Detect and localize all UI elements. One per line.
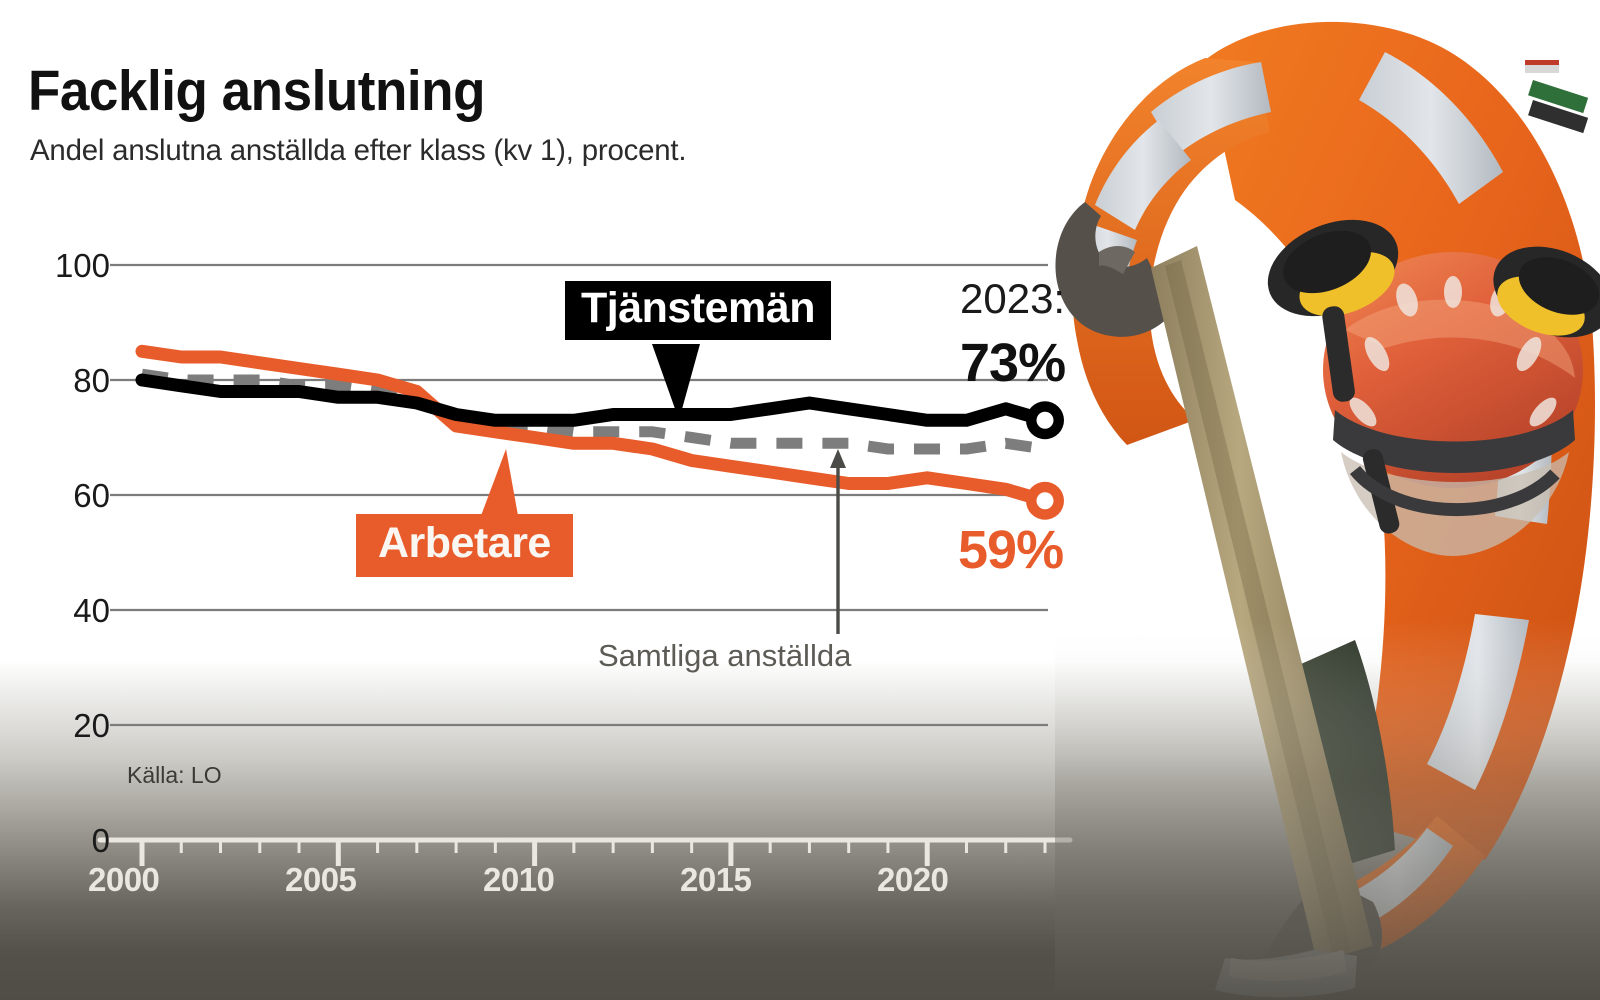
- series-callout-arbetare: Arbetare: [356, 514, 573, 577]
- y-tick-label-0: 0: [20, 822, 110, 860]
- header: Facklig anslutning Andel anslutna anstäl…: [28, 62, 700, 168]
- series-callout-samtliga: Samtliga anställda: [598, 638, 851, 674]
- x-tick-label-2015: 2015: [680, 861, 751, 899]
- callout-pointer-arbetare: [479, 449, 519, 521]
- x-tick-label-2010: 2010: [483, 861, 554, 899]
- x-tick-label-2000: 2000: [88, 861, 159, 899]
- series-line-arbetare: [142, 351, 1045, 501]
- end-marker-hole-arbetare: [1037, 492, 1054, 509]
- x-tick-label-2005: 2005: [285, 861, 356, 899]
- y-tick-label-60: 60: [20, 477, 110, 515]
- y-tick-label-40: 40: [20, 592, 110, 630]
- callout-arrowhead-samtliga: [830, 449, 846, 468]
- x-tick-label-2020: 2020: [877, 861, 948, 899]
- page-subtitle: Andel anslutna anställda efter klass (kv…: [30, 134, 686, 168]
- final-year-label: 2023:: [960, 278, 1065, 320]
- y-tick-label-20: 20: [20, 707, 110, 745]
- y-tick-label-100: 100: [20, 247, 110, 285]
- y-tick-label-80: 80: [20, 362, 110, 400]
- series-line-tjanstemaen: [142, 380, 1045, 420]
- construction-worker-photo: [1055, 0, 1600, 1000]
- page-title: Facklig anslutning: [28, 62, 653, 120]
- final-value-arbetare: 59%: [958, 519, 1063, 581]
- source-note: Källa: LO: [127, 762, 222, 789]
- final-value-tjanstemaen: 73%: [960, 336, 1065, 390]
- photo-bottom-fade: [1055, 0, 1600, 1000]
- final-value-block: 2023: 73%: [960, 278, 1065, 390]
- end-marker-hole-tjanstemaen: [1037, 412, 1054, 429]
- series-callout-tjanstemaen: Tjänstemän: [565, 281, 831, 340]
